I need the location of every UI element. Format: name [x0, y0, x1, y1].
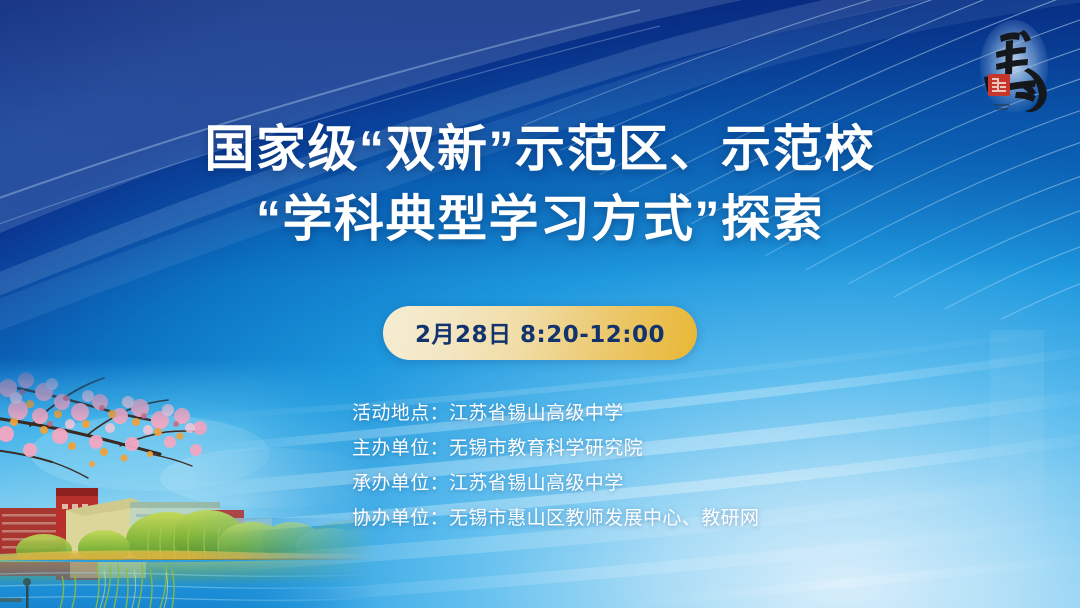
- title-line-1: 国家级“双新”示范区、示范校: [0, 114, 1080, 184]
- poster-title: 国家级“双新”示范区、示范校 “学科典型学习方式”探索: [0, 114, 1080, 254]
- detail-row-venue: 活动地点：江苏省锡山高级中学: [352, 396, 759, 431]
- title-line-2: “学科典型学习方式”探索: [0, 184, 1080, 254]
- date-time-badge: 2月28日 8:20-12:00: [383, 306, 697, 360]
- detail-row-coorganizer: 协办单位：无锡市惠山区教师发展中心、教研网: [352, 501, 759, 536]
- calligraphy-seal-logo: [966, 16, 1062, 120]
- campus-lake-photo: [0, 358, 392, 608]
- detail-row-organizer: 主办单位：无锡市教育科学研究院: [352, 431, 759, 466]
- event-details-list: 活动地点：江苏省锡山高级中学 主办单位：无锡市教育科学研究院 承办单位：江苏省锡…: [352, 396, 759, 536]
- detail-row-host: 承办单位：江苏省锡山高级中学: [352, 466, 759, 501]
- date-badge-wrapper: 2月28日 8:20-12:00: [0, 306, 1080, 360]
- poster-canvas: 国家级“双新”示范区、示范校 “学科典型学习方式”探索 2月28日 8:20-1…: [0, 0, 1080, 608]
- red-seal-stamp: [988, 74, 1010, 96]
